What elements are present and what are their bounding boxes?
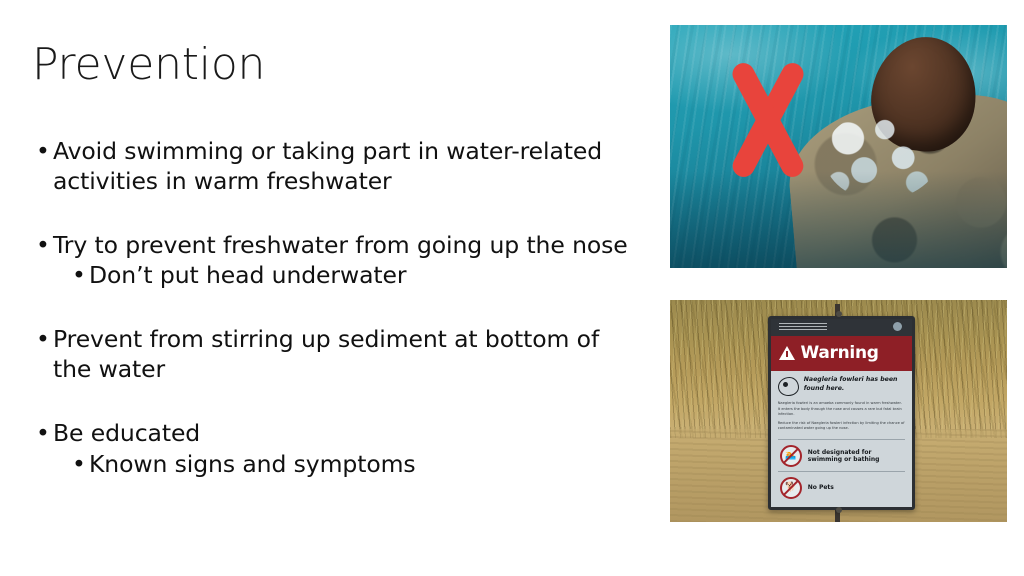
list-item-label: Be educated [53,419,200,447]
spacer [32,196,632,230]
warning-header-label: Warning [801,345,879,362]
agency-seal-icon [893,322,902,331]
list-item-label: Known signs and symptoms [89,450,416,478]
list-item: • Prevent from stirring up sediment at b… [32,324,632,384]
swimmer-glyph: 🏊 [785,452,796,461]
list-item: • Be educated [32,418,632,448]
list-item-label: Try to prevent freshwater from going up … [53,231,628,259]
list-item: • Avoid swimming or taking part in water… [32,136,632,196]
bullet-list: • Avoid swimming or taking part in water… [32,136,632,479]
warning-paragraphs: Naegleria fowleri is an amoeba commonly … [778,401,906,440]
deep-water-shadow [670,171,1007,268]
slide-prevention: Prevention • Avoid swimming or taking pa… [0,0,1024,576]
naegleria-warning-sign-photo: Warning Naegleria fowleri has been found… [670,300,1007,522]
rule-no-swimming-label: Not designated for swimming or bathing [808,449,906,465]
lede-row: Naegleria fowleri has been found here. [778,376,906,396]
warning-board: Warning Naegleria fowleri has been found… [768,316,916,511]
list-item: • Don’t put head underwater [32,260,632,290]
bullet-marker: • [36,418,50,448]
list-item-label: Don’t put head underwater [89,261,406,289]
agency-logo-icon [779,323,827,331]
warning-paragraph: Naegleria fowleri is an amoeba commonly … [778,401,906,417]
list-item-label: Prevent from stirring up sediment at bot… [53,325,599,383]
sign-bolt-top [836,311,842,317]
list-item: • Known signs and symptoms [32,449,632,479]
bullet-marker: • [72,260,86,290]
list-item-label: Avoid swimming or taking part in water-r… [53,137,602,195]
lede-label: Naegleria fowleri has been found here. [804,376,906,393]
no-swimming-icon: 🏊 [780,445,802,467]
dog-glyph: 🐕 [785,484,796,493]
page-title: Prevention [32,40,632,89]
bullet-marker: • [72,449,86,479]
list-item: • Try to prevent freshwater from going u… [32,230,632,260]
bullet-marker: • [36,324,50,354]
no-pets-icon: 🐕 [780,477,802,499]
rule-no-swimming: 🏊 Not designated for swimming or bathing [778,440,906,472]
bullet-marker: • [36,136,50,166]
amoeba-icon [778,377,799,396]
warning-header: Warning [771,336,913,372]
red-x-icon [697,57,839,183]
warning-board-body: Naegleria fowleri has been found here. N… [771,371,913,507]
spacer [32,290,632,324]
agency-logo-bar [771,319,913,336]
sign-bolt-bottom [836,507,842,513]
warning-paragraph: Reduce the risk of Naegleria fowleri inf… [778,421,906,432]
warning-triangle-icon [779,346,795,360]
spacer [32,384,632,418]
rule-no-pets: 🐕 No Pets [778,472,906,503]
bullet-marker: • [36,230,50,260]
rule-no-pets-label: No Pets [808,484,834,492]
swimmer-submerged-photo [670,25,1007,268]
